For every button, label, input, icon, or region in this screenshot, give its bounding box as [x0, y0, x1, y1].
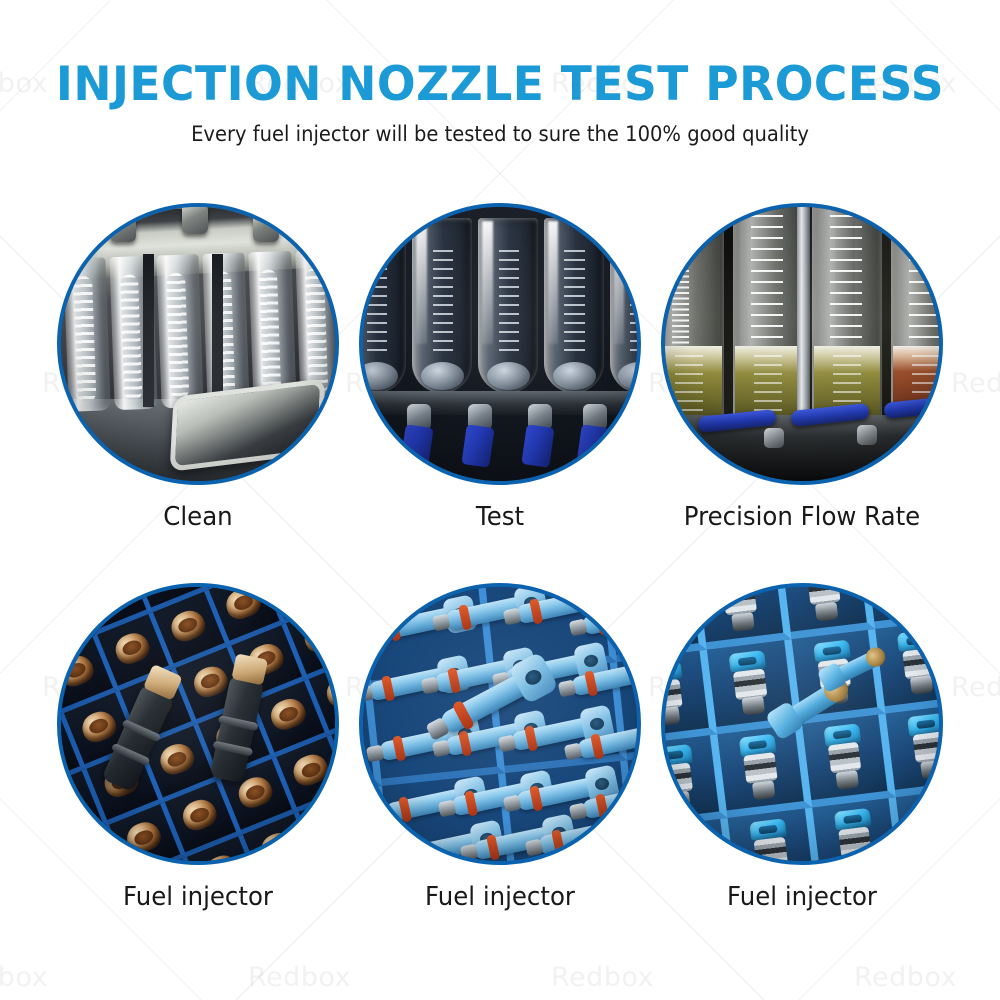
- standing-injector: [882, 587, 934, 613]
- standing-injector: [829, 808, 881, 861]
- standing-injector: [735, 734, 787, 802]
- injector-cap: [257, 829, 299, 861]
- injector-cap: [61, 785, 87, 824]
- step-label: Fuel injector: [654, 881, 949, 913]
- process-step-test: Test: [343, 203, 657, 533]
- page-title: INJECTION NOZZLE TEST PROCESS: [15, 56, 985, 114]
- standing-injector: [903, 713, 939, 781]
- tray-cell: [886, 703, 939, 798]
- step-image-wrapper: [57, 583, 339, 865]
- standing-injector: [665, 744, 703, 812]
- graduated-cylinders-flow-rate-photo: [661, 203, 943, 485]
- step-label: Test: [352, 501, 647, 533]
- injector-cap: [167, 606, 209, 645]
- injector-cap: [61, 651, 98, 690]
- step-image-wrapper: [359, 203, 641, 485]
- blue-injectors-lying-in-tray-photo: [359, 583, 641, 865]
- watermark-text: Redbox: [248, 962, 351, 993]
- injector-cap: [144, 587, 186, 590]
- tray-cell: [812, 798, 907, 861]
- standing-injector: [745, 818, 797, 861]
- standing-injector: [724, 650, 776, 718]
- step-image-wrapper: [359, 583, 641, 865]
- step-image-wrapper: [661, 203, 943, 485]
- ultrasonic-cleaning-tubes-photo: [57, 203, 339, 485]
- injector-cap: [201, 851, 243, 861]
- injector-cap: [111, 629, 153, 668]
- injector-cap: [89, 587, 131, 612]
- tan-top-injectors-in-tray-photo: [57, 583, 339, 865]
- watermark-text: Redbox: [0, 962, 48, 993]
- process-step-fuel-injector-2: Fuel injector: [343, 583, 657, 913]
- watermark-text: Redbox: [854, 962, 957, 993]
- process-steps-grid: Clean: [0, 183, 1000, 943]
- injector-cap: [222, 587, 264, 623]
- injector-cap: [61, 729, 64, 768]
- step-label: Precision Flow Rate: [654, 501, 949, 533]
- injector-cap: [313, 806, 335, 845]
- injector-cap: [78, 707, 120, 746]
- tray-cell: [665, 818, 738, 861]
- standing-injector: [665, 660, 692, 728]
- step-label: Clean: [50, 501, 345, 533]
- tray-cell: [897, 787, 939, 861]
- process-step-clean: Clean: [41, 203, 355, 533]
- injector-cap: [189, 662, 231, 701]
- process-step-precision-flow-rate: Precision Flow Rate: [645, 203, 959, 533]
- injector-cap: [156, 740, 198, 779]
- injector-cap: [323, 672, 335, 711]
- standing-injector: [913, 797, 939, 861]
- standing-injector: [665, 828, 713, 861]
- injector-cap: [61, 595, 75, 634]
- injector-cap: [67, 841, 109, 861]
- step-image-wrapper: [57, 203, 339, 485]
- injector-spray-test-bench-photo: [359, 203, 641, 485]
- injector-cap: [278, 587, 320, 600]
- standing-injector: [819, 723, 871, 791]
- standing-injector: [798, 587, 850, 623]
- watermark-text: Redbox: [551, 962, 654, 993]
- process-step-fuel-injector-3: Fuel injector: [645, 583, 959, 913]
- tray-cell: [728, 808, 823, 861]
- process-step-fuel-injector-1: Fuel injector: [41, 583, 355, 913]
- step-label: Fuel injector: [352, 881, 647, 913]
- standing-injector: [893, 629, 939, 697]
- cyan-injectors-standing-in-tray-photo: [661, 583, 943, 865]
- injector-cap: [290, 751, 332, 790]
- injector-cap: [301, 617, 335, 656]
- tray-cell: [718, 724, 813, 819]
- page-subtitle: Every fuel injector will be tested to su…: [35, 120, 965, 148]
- injector-cap: [179, 796, 221, 835]
- tray-cell: [802, 714, 897, 809]
- step-image-wrapper: [661, 583, 943, 865]
- injector-cap: [268, 695, 310, 734]
- injector-cap: [123, 818, 165, 857]
- step-label: Fuel injector: [50, 881, 345, 913]
- standing-injector: [665, 587, 682, 644]
- standing-injector: [714, 587, 766, 634]
